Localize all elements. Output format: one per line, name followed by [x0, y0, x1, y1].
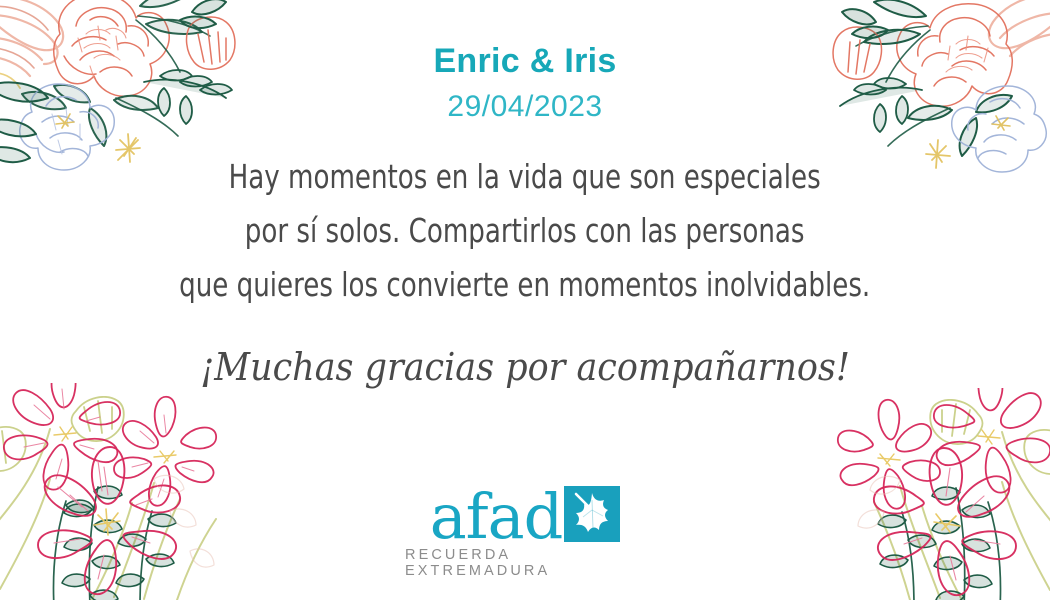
event-date: 29/04/2023	[447, 92, 602, 122]
thank-you-message: ¡Muchas gracias por acompañarnos!	[200, 346, 850, 390]
message-line-2: por sí solos. Compartirlos con las perso…	[179, 204, 870, 258]
card-content: Enric & Iris 29/04/2023 Hay momentos en …	[0, 0, 1050, 600]
couple-names: Enric & Iris	[433, 44, 616, 78]
message-line-1: Hay momentos en la vida que son especial…	[179, 150, 870, 204]
greeting-card: Enric & Iris 29/04/2023 Hay momentos en …	[0, 0, 1050, 600]
message-line-3: que quieres los convierte en momentos in…	[179, 258, 870, 312]
message-body: Hay momentos en la vida que son especial…	[179, 150, 870, 312]
